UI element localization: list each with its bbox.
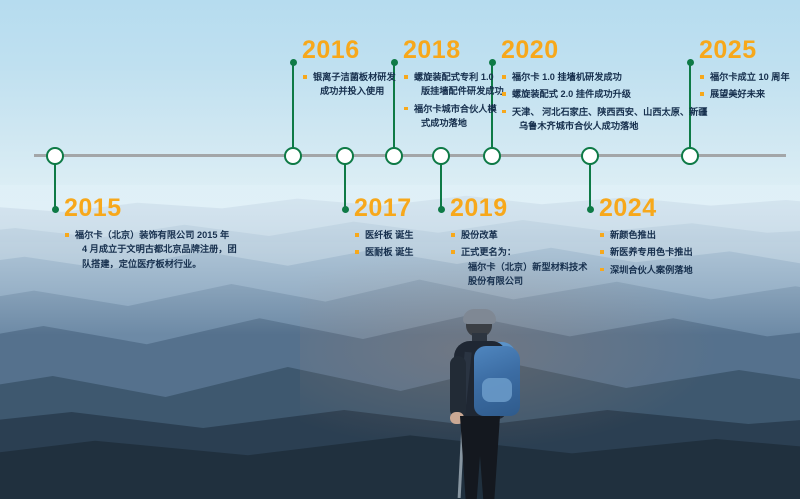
timeline-bullet-continuation: 版挂墙配件研发成功 [403, 84, 504, 98]
timeline-node-2020[interactable] [483, 147, 501, 165]
timeline-year-label: 2016 [302, 38, 396, 63]
timeline-year-label: 2020 [501, 38, 708, 63]
timeline-bullet: 福尔卡城市合伙人模 [403, 102, 504, 116]
timeline-bullet: 深圳合伙人案例落地 [599, 263, 693, 277]
timeline-bullet: 银离子洁菌板材研发 [302, 70, 396, 84]
timeline-bullet-list: 新颜色推出新医养专用色卡推出深圳合伙人案例落地 [599, 228, 693, 277]
timeline-year-label: 2017 [354, 196, 414, 221]
timeline-bullet: 螺旋装配式 2.0 挂件成功升级 [501, 87, 708, 101]
timeline-bullet-list: 福尔卡成立 10 周年展望美好未来 [699, 70, 790, 102]
timeline-bullet-list: 医纤板 诞生医耐板 诞生 [354, 228, 414, 260]
timeline-bullet: 展望美好未来 [699, 87, 790, 101]
timeline-bullet: 福尔卡（北京）装饰有限公司 2015 年 [64, 228, 237, 242]
timeline-bullet: 医纤板 诞生 [354, 228, 414, 242]
timeline-bullet: 福尔卡 1.0 挂墙机研发成功 [501, 70, 708, 84]
timeline-axis [34, 154, 786, 157]
timeline-entry-2015: 2015福尔卡（北京）装饰有限公司 2015 年4 月成立于文明古都北京品牌注册… [64, 196, 237, 274]
timeline-node-2015[interactable] [46, 147, 64, 165]
timeline-year-label: 2015 [64, 196, 237, 221]
timeline-node-2016[interactable] [284, 147, 302, 165]
timeline-bullet: 福尔卡成立 10 周年 [699, 70, 790, 84]
timeline-bullet-continuation: 乌鲁木齐城市合伙人成功落地 [501, 119, 708, 133]
timeline-stem-endpoint-2024 [587, 206, 594, 213]
timeline-bullet-continuation: 4 月成立于文明古都北京品牌注册，团 [64, 242, 237, 256]
timeline-stem-endpoint-2016 [290, 59, 297, 66]
timeline-infographic: 2015福尔卡（北京）装饰有限公司 2015 年4 月成立于文明古都北京品牌注册… [0, 0, 800, 499]
hiker-arm [450, 356, 466, 418]
timeline-bullet: 新颜色推出 [599, 228, 693, 242]
timeline-node-2017[interactable] [336, 147, 354, 165]
timeline-year-label: 2024 [599, 196, 693, 221]
timeline-year-label: 2019 [450, 196, 587, 221]
timeline-node-2018[interactable] [385, 147, 403, 165]
timeline-entry-2019: 2019股份改革正式更名为：福尔卡（北京）新型材料技术股份有限公司 [450, 196, 587, 291]
timeline-node-2025[interactable] [681, 147, 699, 165]
timeline-bullet: 螺旋装配式专利 1.0 [403, 70, 504, 84]
timeline-bullet-continuation: 式成功落地 [403, 116, 504, 130]
timeline-bullet-continuation: 成功并投入使用 [302, 84, 396, 98]
timeline-stem-endpoint-2017 [342, 206, 349, 213]
timeline-stem-2016 [292, 62, 295, 155]
backpack-pocket [482, 378, 512, 402]
timeline-bullet-continuation: 福尔卡（北京）新型材料技术 [450, 260, 587, 274]
timeline-bullet-list: 银离子洁菌板材研发成功并投入使用 [302, 70, 396, 99]
hiker-legs [460, 416, 500, 499]
timeline-bullet-list: 股份改革正式更名为：福尔卡（北京）新型材料技术股份有限公司 [450, 228, 587, 288]
hiker-cap [463, 309, 496, 324]
timeline-bullet: 新医养专用色卡推出 [599, 245, 693, 259]
timeline-bullet-list: 螺旋装配式专利 1.0版挂墙配件研发成功福尔卡城市合伙人模式成功落地 [403, 70, 504, 130]
timeline-bullet: 股份改革 [450, 228, 587, 242]
timeline-bullet-continuation: 股份有限公司 [450, 274, 587, 288]
timeline-bullet: 医耐板 诞生 [354, 245, 414, 259]
timeline-year-label: 2018 [403, 38, 504, 63]
timeline-bullet-list: 福尔卡（北京）装饰有限公司 2015 年4 月成立于文明古都北京品牌注册，团队搭… [64, 228, 237, 271]
timeline-stem-endpoint-2019 [438, 206, 445, 213]
timeline-entry-2016: 2016银离子洁菌板材研发成功并投入使用 [302, 38, 396, 102]
hiker-figure [430, 312, 550, 499]
timeline-node-2024[interactable] [581, 147, 599, 165]
timeline-bullet: 天津、 河北石家庄、陕西西安、山西太原、新疆 [501, 105, 708, 119]
timeline-bullet-continuation: 队搭建，定位医疗板材行业。 [64, 257, 237, 271]
timeline-bullet: 正式更名为： [450, 245, 587, 259]
timeline-year-label: 2025 [699, 38, 790, 63]
timeline-stem-endpoint-2015 [52, 206, 59, 213]
timeline-node-2019[interactable] [432, 147, 450, 165]
timeline-entry-2018: 2018螺旋装配式专利 1.0版挂墙配件研发成功福尔卡城市合伙人模式成功落地 [403, 38, 504, 133]
timeline-entry-2017: 2017医纤板 诞生医耐板 诞生 [354, 196, 414, 263]
timeline-entry-2024: 2024新颜色推出新医养专用色卡推出深圳合伙人案例落地 [599, 196, 693, 280]
timeline-entry-2025: 2025福尔卡成立 10 周年展望美好未来 [699, 38, 790, 105]
timeline-bullet-list: 福尔卡 1.0 挂墙机研发成功螺旋装配式 2.0 挂件成功升级天津、 河北石家庄… [501, 70, 708, 133]
timeline-entry-2020: 2020福尔卡 1.0 挂墙机研发成功螺旋装配式 2.0 挂件成功升级天津、 河… [501, 38, 708, 136]
